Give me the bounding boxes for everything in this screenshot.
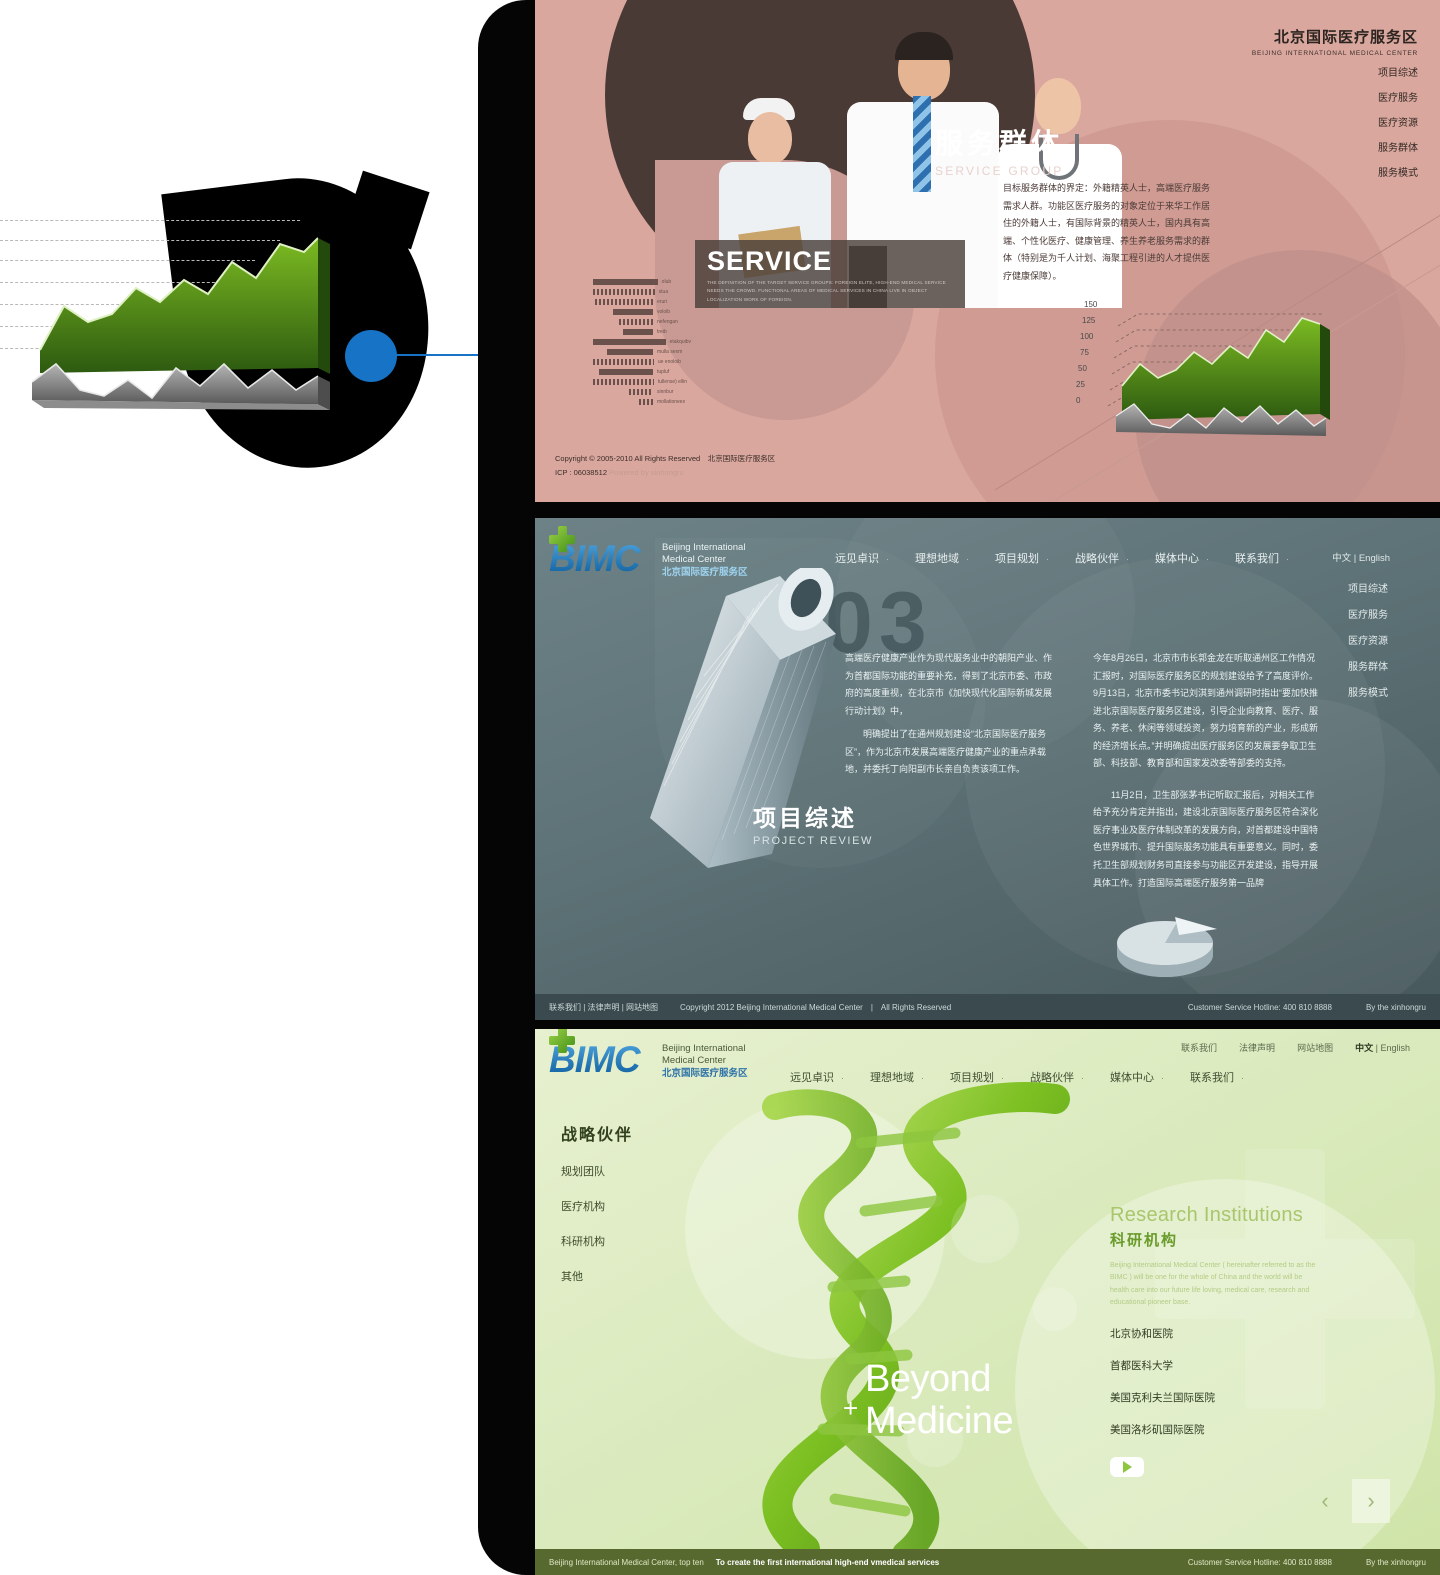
callout-connector-dot: [345, 330, 397, 382]
side-nav-item-1[interactable]: 医疗服务: [1348, 606, 1388, 621]
footer-hotline: Customer Service Hotline: 400 810 8888: [1188, 1003, 1332, 1012]
placeholder-bar-label: tupluf: [657, 369, 703, 375]
footer-left-text: Beijing International Medical Center, to…: [549, 1558, 704, 1567]
placeholder-bar-row: stua: [593, 288, 703, 295]
sidebar-title: 战略伙伴: [561, 1121, 633, 1145]
panel1-3d-area-chart: 0 25 50 75 100 125 150: [1090, 308, 1335, 443]
play-icon: [1123, 1461, 1132, 1473]
slogan-plus-icon: +: [843, 1393, 858, 1424]
side-nav-item-4[interactable]: 服务模式: [1348, 684, 1388, 699]
placeholder-bar-label: eruri: [657, 299, 703, 305]
logo-subtitle: Beijing International Medical Center 北京国…: [662, 1043, 748, 1083]
footer-bar: Beijing International Medical Center, to…: [535, 1549, 1440, 1575]
chart-tick-125: 125: [1082, 316, 1095, 325]
footer-right: Customer Service Hotline: 400 810 8888 B…: [1188, 1003, 1426, 1012]
nav-label-4: 媒体中心: [1110, 1072, 1154, 1084]
nav-dot-1: ·: [921, 1073, 924, 1083]
service-overlay-text: THE DEFINITION OF THE TARGET SERVICE GRO…: [695, 277, 965, 304]
logo-en-line1: Beijing International: [662, 1043, 748, 1056]
placeholder-bar: [593, 279, 658, 285]
side-nav[interactable]: 项目综述 医疗服务 医疗资源 服务群体 服务模式: [1348, 580, 1388, 710]
chart-tick-25: 25: [1076, 380, 1085, 389]
placeholder-bar: [607, 349, 653, 355]
nav-item-4[interactable]: 媒体中心·: [1110, 1069, 1164, 1085]
side-nav-item-2[interactable]: 医疗资源: [1378, 114, 1418, 129]
placeholder-bar-label: mulla sexm: [657, 349, 703, 355]
placeholder-bar: [619, 319, 653, 325]
nav-item-2[interactable]: 项目规划·: [950, 1069, 1004, 1085]
lang-separator: |: [1376, 1043, 1378, 1053]
play-button[interactable]: [1110, 1457, 1144, 1477]
nav-dot-0: ·: [886, 554, 889, 564]
placeholder-bar: [595, 299, 653, 305]
placeholder-bar: [623, 329, 653, 335]
nav-dot-2: ·: [1001, 1073, 1004, 1083]
chart-tick-100: 100: [1080, 332, 1093, 341]
page-title-en: SERVICE GROUP: [935, 164, 1063, 178]
nav-label-1: 理想地域: [915, 553, 959, 565]
footer-right: Customer Service Hotline: 400 810 8888 B…: [1188, 1558, 1426, 1567]
footer-credit: By the xinhongru: [1366, 1558, 1426, 1567]
placeholder-bar-row: eruri: [593, 298, 703, 305]
utility-link-1[interactable]: 法律声明: [1239, 1041, 1275, 1054]
footer-bar: 联系我们 | 法律声明 | 网站地图 Copyright 2012 Beijin…: [535, 994, 1440, 1020]
dna-helix-illustration: [655, 1059, 1175, 1559]
placeholder-bar: [593, 379, 654, 385]
panel-research-institutions: BIMC Beijing International Medical Cente…: [535, 1029, 1440, 1575]
lang-en[interactable]: English: [1359, 553, 1390, 564]
logo-en-line1: Beijing International: [662, 542, 748, 555]
content-title-cn: 科研机构: [1110, 1229, 1380, 1250]
floating-chart-callout: [0, 160, 520, 490]
placeholder-bar: [593, 289, 655, 295]
content-description: Beijing International Medical Center ( h…: [1110, 1260, 1320, 1309]
slogan-line-2: Medicine: [865, 1401, 1013, 1443]
nav-dot-2: ·: [1046, 554, 1049, 564]
sidebar-item-3[interactable]: 其他: [561, 1268, 633, 1284]
institution-item-0[interactable]: 北京协和医院: [1110, 1326, 1380, 1341]
nav-item-2[interactable]: 项目规划·: [995, 550, 1049, 566]
screenshot-root: 北京国际医疗服务区 BEIJING INTERNATIONAL MEDICAL …: [0, 0, 1440, 1575]
placeholder-bar-row: voloib: [593, 308, 703, 315]
placeholder-bar-label: mollationeex: [657, 399, 703, 405]
section-caption-en: PROJECT REVIEW: [753, 835, 873, 847]
nav-dot-1: ·: [966, 554, 969, 564]
side-nav-item-3[interactable]: 服务群体: [1348, 658, 1388, 673]
placeholder-bar-label: tullense) ellin: [658, 379, 703, 385]
placeholder-bar-row: mulla sexm: [593, 348, 703, 355]
page-title: 服务群体 SERVICE GROUP: [935, 122, 1063, 178]
lang-separator: |: [1354, 553, 1356, 564]
footer: Copyright © 2005-2010 All Rights Reserve…: [555, 452, 775, 481]
sidebar-item-1[interactable]: 医疗机构: [561, 1198, 633, 1214]
placeholder-bar-row: treib: [593, 328, 703, 335]
placeholder-bar: [593, 339, 666, 345]
footer-icp: ICP : 06038512: [555, 468, 607, 477]
service-overlay-title: SERVICE: [695, 240, 965, 277]
placeholder-bar-label: nefengan: [657, 319, 703, 325]
placeholder-bar-label: voloib: [657, 309, 703, 315]
placeholder-bar: [613, 309, 653, 315]
nav-item-0[interactable]: 远见卓识·: [790, 1069, 844, 1085]
logo-en-line2: Medical Center: [662, 1055, 748, 1068]
side-nav-item-1[interactable]: 医疗服务: [1378, 89, 1418, 104]
chart-svg: [18, 218, 338, 418]
lang-cn[interactable]: 中文: [1355, 1043, 1373, 1053]
institution-item-2[interactable]: 美国克利夫兰国际医院: [1110, 1390, 1380, 1405]
big-3d-area-chart: [18, 218, 338, 418]
sidebar-nav[interactable]: 战略伙伴 规划团队 医疗机构 科研机构 其他: [561, 1121, 633, 1303]
nav-item-0[interactable]: 远见卓识·: [835, 550, 889, 566]
nav-item-5[interactable]: 联系我们·: [1235, 550, 1289, 566]
slogan-line-1: Beyond: [865, 1359, 1013, 1401]
service-overlay-box: SERVICE THE DEFINITION OF THE TARGET SER…: [695, 240, 965, 308]
side-nav-item-3[interactable]: 服务群体: [1378, 139, 1418, 154]
page-paragraph: 目标服务群体的界定：外籍精英人士，高端医疗服务需求人群。功能区医疗服务的对象定位…: [1003, 180, 1213, 285]
content-panel: Research Institutions 科研机构 Beijing Inter…: [1110, 1204, 1380, 1477]
placeholder-bar-list: olubstuaerurivoloibnefengantreibetakquib…: [593, 278, 703, 408]
page-title-cn: 服务群体: [935, 122, 1063, 162]
nav-item-1[interactable]: 理想地域·: [915, 550, 969, 566]
language-switch[interactable]: 中文 | English: [1332, 550, 1390, 564]
logo-mark: BIMC: [549, 1041, 653, 1083]
side-nav[interactable]: 项目综述 医疗服务 医疗资源 服务群体 服务模式: [1378, 64, 1418, 189]
nav-dot-5: ·: [1241, 1073, 1244, 1083]
placeholder-bar: [593, 359, 654, 365]
placeholder-bar-row: ue enoloib: [593, 358, 703, 365]
placeholder-bar-row: mollationeex: [593, 398, 703, 405]
chart-tick-0: 0: [1076, 396, 1080, 405]
slogan: + Beyond Medicine: [865, 1359, 1013, 1443]
chart-tick-75: 75: [1080, 348, 1089, 357]
nav-label-3: 战略伙伴: [1075, 553, 1119, 565]
footer-credit: By the xinhongru: [1366, 1003, 1426, 1012]
placeholder-bar: [629, 389, 653, 395]
bimc-logo[interactable]: BIMC Beijing International Medical Cente…: [549, 1041, 748, 1083]
nav-dot-4: ·: [1161, 1073, 1164, 1083]
placeholder-bar-label: olub: [662, 279, 703, 285]
nav-dot-3: ·: [1126, 554, 1129, 564]
utility-link-0[interactable]: 联系我们: [1181, 1041, 1217, 1054]
body-paragraph-b2: 11月2日，卫生部张茅书记听取汇报后，对相关工作给予充分肯定并指出，建设北京国际…: [1093, 787, 1318, 892]
nav-label-2: 项目规划: [950, 1072, 994, 1084]
placeholder-bar-label: etakquibv: [670, 339, 703, 345]
sidebar-item-2[interactable]: 科研机构: [561, 1233, 633, 1249]
main-nav[interactable]: 远见卓识· 理想地域· 项目规划· 战略伙伴· 媒体中心· 联系我们·: [835, 550, 1289, 566]
placeholder-bar-row: nefengan: [593, 318, 703, 325]
nav-item-5[interactable]: 联系我们·: [1190, 1069, 1244, 1085]
placeholder-bar-row: tullense) ellin: [593, 378, 703, 385]
panel-service-group: 北京国际医疗服务区 BEIJING INTERNATIONAL MEDICAL …: [535, 0, 1440, 502]
nav-dot-3: ·: [1081, 1073, 1084, 1083]
nav-label-2: 项目规划: [995, 553, 1039, 565]
main-nav[interactable]: 远见卓识· 理想地域· 项目规划· 战略伙伴· 媒体中心· 联系我们·: [790, 1069, 1244, 1085]
language-switch[interactable]: 中文 | English: [1355, 1041, 1410, 1054]
panel-project-review: BIMC Beijing International Medical Cente…: [535, 518, 1440, 1020]
side-nav-item-4[interactable]: 服务模式: [1378, 164, 1418, 179]
utility-link-2[interactable]: 网站地图: [1297, 1041, 1333, 1054]
footer-hotline: Customer Service Hotline: 400 810 8888: [1188, 1558, 1332, 1567]
brand-name-en: BEIJING INTERNATIONAL MEDICAL CENTER: [1252, 50, 1418, 57]
nav-label-0: 远见卓识: [790, 1072, 834, 1084]
placeholder-bar-label: ue enoloib: [658, 359, 703, 365]
footer-tagline: To create the first international high-e…: [716, 1558, 939, 1567]
section-caption-cn: 项目综述: [753, 799, 873, 833]
placeholder-bar-row: olub: [593, 278, 703, 285]
side-nav-item-0[interactable]: 项目综述: [1348, 580, 1388, 595]
nav-dot-0: ·: [841, 1073, 844, 1083]
side-nav-item-0[interactable]: 项目综述: [1378, 64, 1418, 79]
placeholder-bar-row: etakquibv: [593, 338, 703, 345]
pie-chart-illustration: [1105, 893, 1225, 983]
placeholder-bar-label: stua: [659, 289, 703, 295]
footer-copyright: Copyright 2012 Beijing International Med…: [680, 1002, 951, 1013]
side-nav-item-2[interactable]: 医疗资源: [1348, 632, 1388, 647]
nav-item-3[interactable]: 战略伙伴·: [1075, 550, 1129, 566]
nav-dot-4: ·: [1206, 554, 1209, 564]
brand-block: 北京国际医疗服务区 BEIJING INTERNATIONAL MEDICAL …: [1252, 26, 1418, 57]
section-caption: 项目综述 PROJECT REVIEW: [753, 799, 873, 847]
carousel-next-button[interactable]: ›: [1352, 1479, 1390, 1523]
lang-en[interactable]: English: [1380, 1043, 1410, 1053]
placeholder-bar: [639, 399, 653, 405]
carousel-controls[interactable]: ‹ ›: [1306, 1479, 1390, 1523]
nav-label-5: 联系我们: [1190, 1072, 1234, 1084]
logo-en-line2: Medical Center: [662, 554, 748, 567]
body-paragraph-b1: 今年8月26日，北京市市长郭金龙在听取通州区工作情况汇报时，对国际医疗服务区的规…: [1093, 650, 1318, 773]
placeholder-bar-row: tupluf: [593, 368, 703, 375]
nav-dot-5: ·: [1286, 554, 1289, 564]
footer-powered-by: Powered by xinhongru: [609, 468, 684, 477]
brand-name-cn: 北京国际医疗服务区: [1252, 26, 1418, 47]
placeholder-bar-row: sinnbur: [593, 388, 703, 395]
footer-copyright: Copyright © 2005-2010 All Rights Reserve…: [555, 452, 775, 466]
content-title-en: Research Institutions: [1110, 1204, 1380, 1227]
nav-label-3: 战略伙伴: [1030, 1072, 1074, 1084]
medical-cross-icon: [549, 526, 575, 552]
nav-label-5: 联系我们: [1235, 553, 1279, 565]
lang-cn[interactable]: 中文: [1332, 553, 1351, 564]
medical-cross-icon: [549, 1029, 575, 1053]
institution-item-3[interactable]: 美国洛杉矶国际医院: [1110, 1422, 1380, 1437]
institution-item-1[interactable]: 首都医科大学: [1110, 1358, 1380, 1373]
placeholder-bar-label: sinnbur: [657, 389, 703, 395]
nav-label-4: 媒体中心: [1155, 553, 1199, 565]
nav-item-1[interactable]: 理想地域·: [870, 1069, 924, 1085]
placeholder-bar-label: treib: [657, 329, 703, 335]
carousel-prev-button[interactable]: ‹: [1306, 1479, 1344, 1523]
nav-label-0: 远见卓识: [835, 553, 879, 565]
logo-cn: 北京国际医疗服务区: [662, 1068, 748, 1081]
body-column-right: 今年8月26日，北京市市长郭金龙在听取通州区工作情况汇报时，对国际医疗服务区的规…: [1093, 650, 1318, 892]
nav-item-3[interactable]: 战略伙伴·: [1030, 1069, 1084, 1085]
sidebar-item-0[interactable]: 规划团队: [561, 1163, 633, 1179]
chart-tick-50: 50: [1078, 364, 1087, 373]
footer-links[interactable]: 联系我们 | 法律声明 | 网站地图: [549, 1002, 658, 1013]
nav-item-4[interactable]: 媒体中心·: [1155, 550, 1209, 566]
placeholder-bar: [599, 369, 653, 375]
chart-tick-150: 150: [1084, 300, 1097, 309]
utility-nav[interactable]: 联系我们 法律声明 网站地图 中文 | English: [1181, 1041, 1410, 1054]
panel1-chart-svg: [1090, 308, 1335, 443]
nav-label-1: 理想地域: [870, 1072, 914, 1084]
